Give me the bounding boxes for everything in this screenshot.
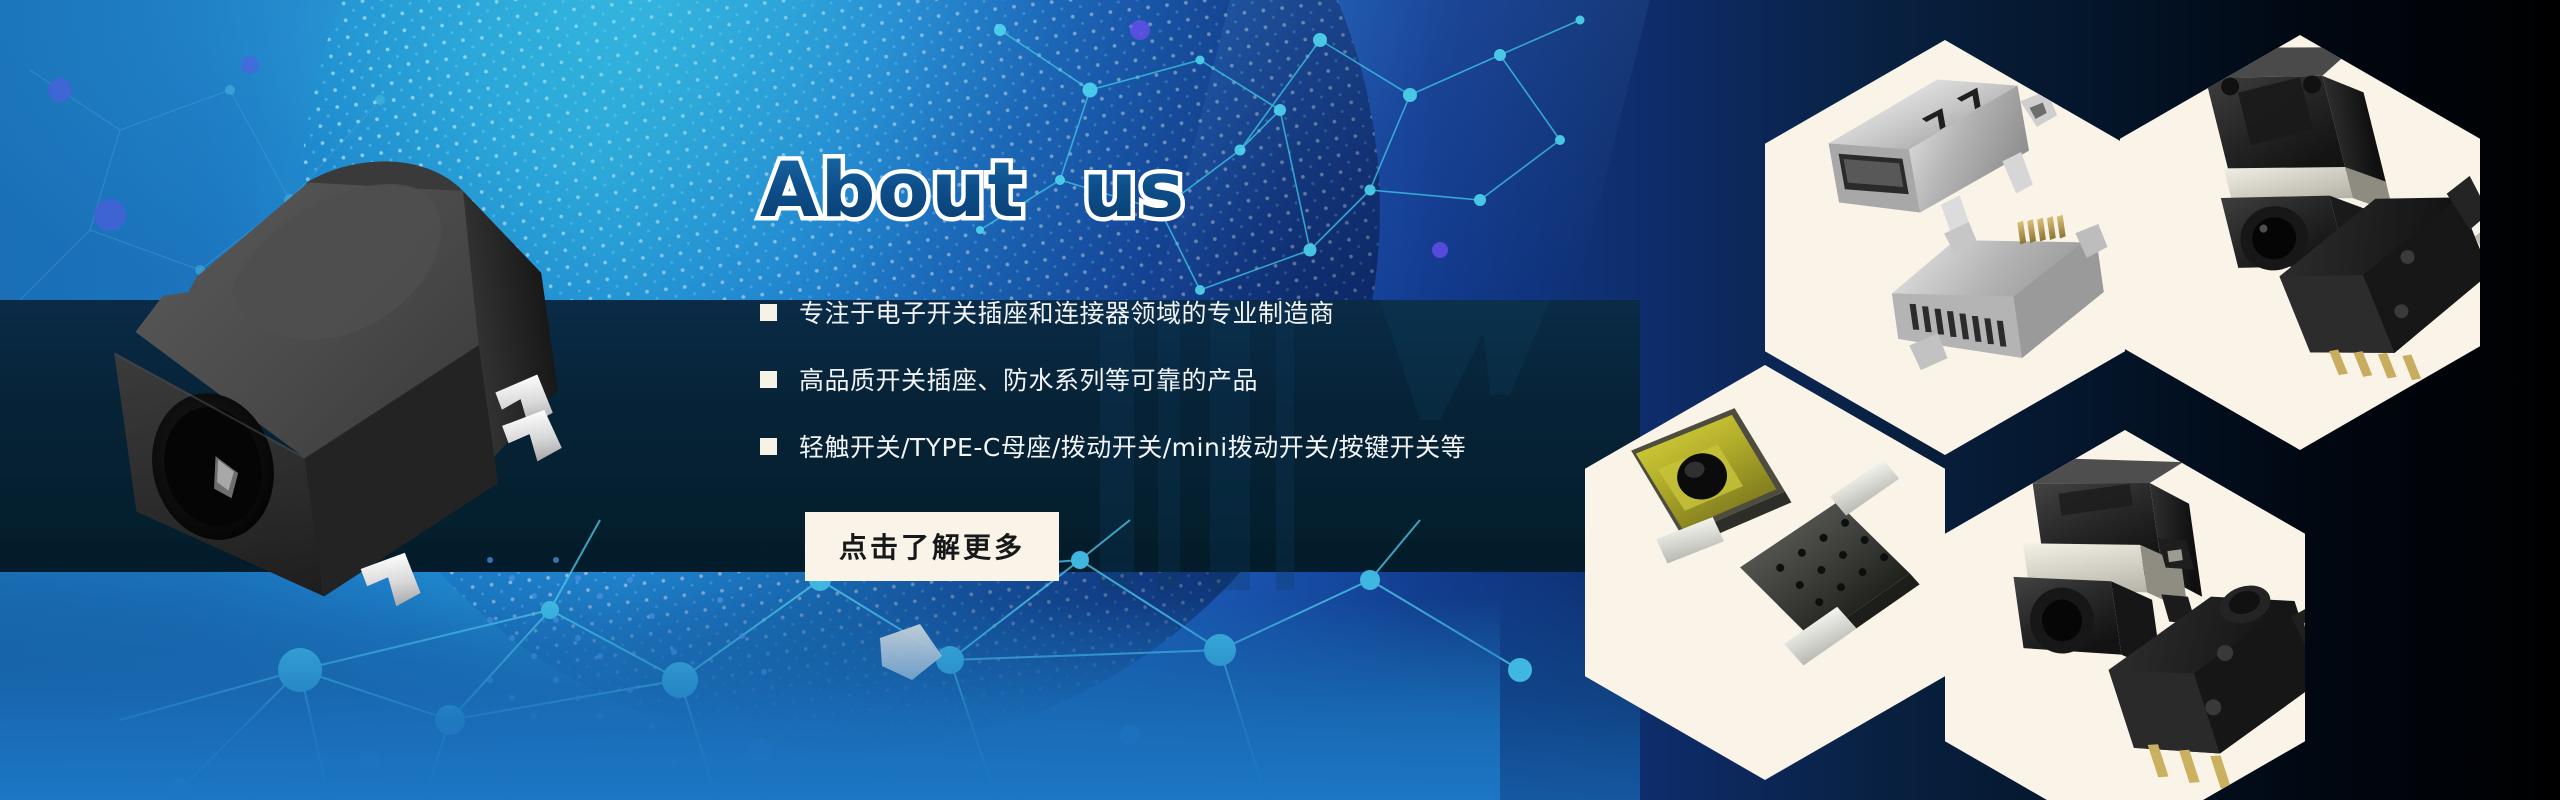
list-item: 专注于电子开关插座和连接器领域的专业制造商 [760, 294, 1660, 330]
list-item: 高品质开关插座、防水系列等可靠的产品 [760, 361, 1660, 397]
product-hexagon-grid [1560, 0, 2560, 800]
audio-jack-image [1945, 430, 2305, 800]
feature-list: 专注于电子开关插座和连接器领域的专业制造商 高品质开关插座、防水系列等可靠的产品… [760, 294, 1660, 464]
tactile-switch-image [1585, 365, 1945, 780]
about-content: About us About us 专注于电子开关插座和连接器领域的专业制造商 … [760, 150, 1660, 581]
page-title: About us About us [760, 150, 1660, 246]
hex-tile-tactile-switch[interactable] [1585, 365, 1945, 780]
hex-tile-dc-power-jack[interactable] [2120, 35, 2480, 450]
hex-tile-audio-jack[interactable] [1945, 430, 2305, 800]
about-us-banner: About us About us 专注于电子开关插座和连接器领域的专业制造商 … [0, 0, 2560, 800]
square-bullet-icon [760, 371, 777, 388]
square-bullet-icon [760, 304, 777, 321]
learn-more-button[interactable]: 点击了解更多 [805, 512, 1059, 581]
dc-power-jack-image [2120, 35, 2480, 450]
hero-product-dc-power-jack [55, 115, 655, 656]
list-item-label: 高品质开关插座、防水系列等可靠的产品 [799, 361, 1258, 397]
page-title-fill: About us [760, 150, 1186, 230]
square-bullet-icon [760, 438, 777, 455]
hex-tile-usb-type-c[interactable] [1765, 40, 2125, 455]
list-item: 轻触开关/TYPE-C母座/拨动开关/mini拨动开关/按键开关等 [760, 428, 1660, 464]
usb-type-c-connectors-image [1765, 40, 2125, 455]
list-item-label: 专注于电子开关插座和连接器领域的专业制造商 [799, 294, 1335, 330]
list-item-label: 轻触开关/TYPE-C母座/拨动开关/mini拨动开关/按键开关等 [799, 428, 1466, 464]
